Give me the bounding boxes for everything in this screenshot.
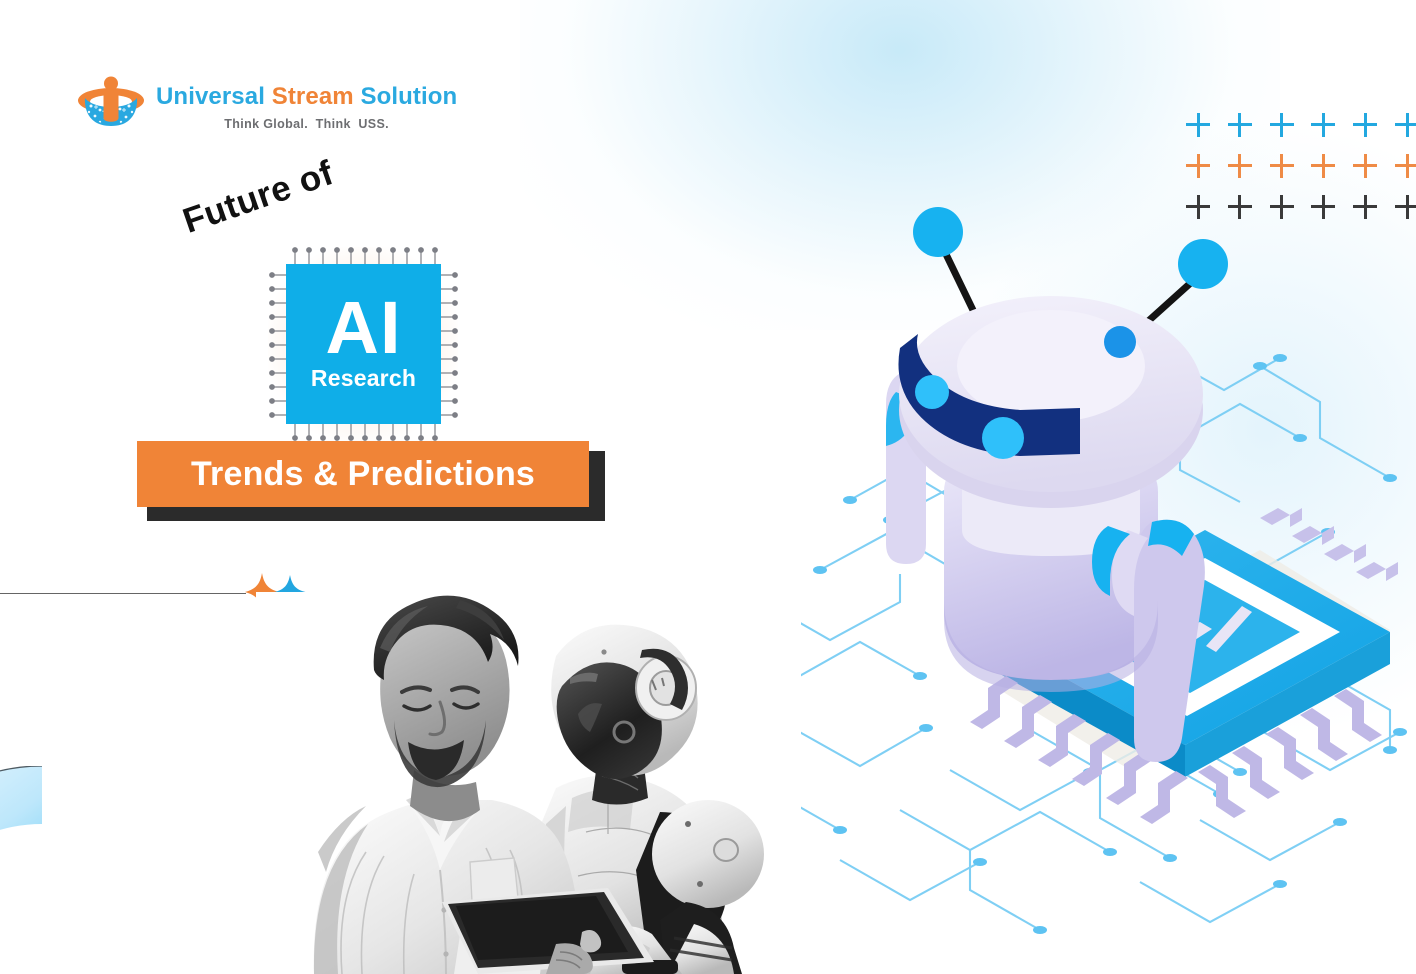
poster-canvas: Universal Stream Solution Think Global. … xyxy=(0,0,1416,974)
headline-banner-text: Trends & Predictions xyxy=(191,455,535,494)
robot-eye-left xyxy=(915,375,949,409)
plus-icon xyxy=(1270,113,1285,137)
plus-icon xyxy=(1353,113,1368,137)
plus-icon xyxy=(1395,113,1410,137)
robot-eye-right xyxy=(982,417,1024,459)
headline-banner-group: Trends & Predictions xyxy=(137,441,595,513)
accent-rule xyxy=(0,593,246,594)
antenna-ball-right xyxy=(1178,239,1228,289)
antenna-socket xyxy=(1104,326,1136,358)
brand-logo[interactable]: Universal Stream Solution Think Global. … xyxy=(76,76,457,138)
uss-logo-icon xyxy=(76,76,146,138)
brand-name-part1: Universal xyxy=(156,83,272,110)
brand-wordmark: Universal Stream Solution Think Global. … xyxy=(156,83,457,131)
chip-core: AI Research xyxy=(286,264,441,424)
plus-icon xyxy=(1311,113,1326,137)
robot-head xyxy=(898,296,1203,508)
isometric-ai-illustration xyxy=(700,170,1416,974)
brand-name: Universal Stream Solution xyxy=(156,85,457,109)
man-and-robot-photo xyxy=(256,592,801,974)
chip-ai-text: AI xyxy=(326,294,402,362)
chip-research-text: Research xyxy=(311,367,416,390)
headline-eyebrow: Future of xyxy=(178,153,339,242)
plus-icon xyxy=(1228,113,1243,137)
antenna-ball-left xyxy=(913,207,963,257)
brand-name-part3: Solution xyxy=(360,83,457,110)
plus-row-blue xyxy=(1186,104,1410,145)
corner-arc-decoration xyxy=(0,766,252,974)
brand-tagline: Think Global. Think USS. xyxy=(156,118,457,131)
brand-name-part2: Stream xyxy=(272,83,361,110)
ai-research-chip-graphic: AI Research xyxy=(268,247,458,442)
headline-banner: Trends & Predictions xyxy=(137,441,589,507)
mascot-robot xyxy=(886,207,1228,762)
plus-icon xyxy=(1186,113,1201,137)
